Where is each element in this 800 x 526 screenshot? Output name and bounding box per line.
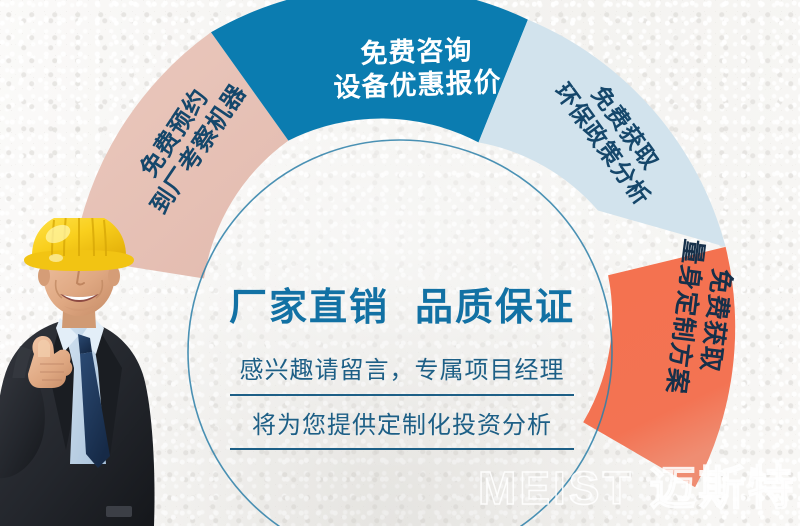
person-hard-hat [24,218,134,271]
headline-left: 厂家直销 [229,287,389,329]
sub-line-2: 将为您提供定制化投资分析 [196,396,608,448]
promo-banner: 免费预约 到厂考察机器 免费咨询 设备优惠报价 免费获取 环保政策分析 免费获取… [0,0,800,526]
headline-right: 品质保证 [415,287,575,329]
businessman-photo [0,218,209,526]
center-message-block: 厂家直销品质保证 感兴趣请留言，专属项目经理 将为您提供定制化投资分析 [196,276,608,450]
person-belt [106,506,132,517]
wheel-segment-policy-shape[interactable] [479,20,726,247]
headline: 厂家直销品质保证 [196,276,608,331]
sub-line-1: 感兴趣请留言，专属项目经理 [196,347,608,394]
divider-rule-2 [230,448,574,450]
